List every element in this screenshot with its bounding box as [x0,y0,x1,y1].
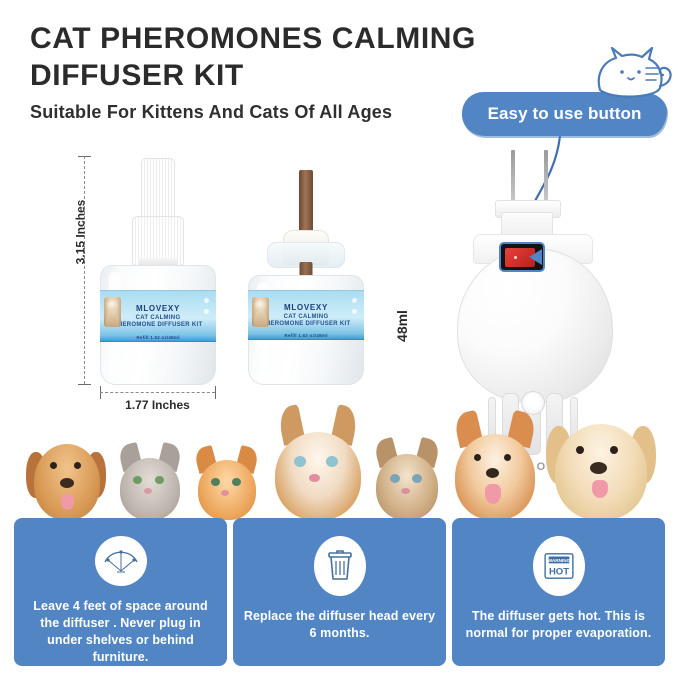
panel-replacement: Replace the diffuser head every 6 months… [233,518,446,666]
label-cat-photo [252,297,269,327]
label-line1: CAT CALMING [136,315,181,321]
distance-arc-icon [95,536,147,586]
diffuser-device: MLOVEXY [443,150,643,400]
power-button[interactable] [499,242,545,272]
page-title-line1: CAT PHEROMONES CALMING [30,20,500,57]
animal-orange-kitten [196,452,258,520]
animal-photo-strip [0,408,679,520]
sign-hot-text: HOT [548,567,568,578]
label-line2: PHEROMONE DIFFUSER KIT [262,321,351,327]
dimension-tick-bottom [78,384,91,385]
label-line1: CAT CALMING [284,314,329,320]
label-line2: PHEROMONE DIFFUSER KIT [114,322,203,328]
panel-heat-warning-text: The diffuser gets hot. This is normal fo… [452,608,665,642]
dimension-line-vertical [84,156,85,384]
animal-shiba-inu-dog [452,422,538,520]
callout-arrow-icon [529,249,542,265]
label-refill-volume: Refill 1.62 oz/48ml [248,333,364,338]
badge-label: Easy to use button [462,92,667,136]
label-cat-photo [104,297,121,327]
panel-spacing-text: Leave 4 feet of space around the diffuse… [14,598,227,666]
warning-hot-sign-icon: WARNING HOT [533,536,585,596]
label-refill-volume: Refill 1.62 oz/48ml [100,335,216,340]
plug-prong-right [544,150,548,202]
label-dots [352,298,361,320]
panel-spacing: Leave 4 feet of space around the diffuse… [14,518,227,666]
page-subtitle: Suitable For Kittens And Cats Of All Age… [30,102,500,123]
open-refill-bottle: MLOVEXY CAT CALMING PHEROMONE DIFFUSER K… [248,170,364,385]
label-brand: MLOVEXY [284,303,328,312]
dimension-line-horizontal [100,392,215,393]
animal-maine-coon-cat [272,420,364,520]
animal-golden-retriever-dog [28,434,106,520]
panel-heat-warning: WARNING HOT The diffuser gets hot. This … [452,518,665,666]
animal-golden-retriever-puppy [548,412,654,520]
exposed-wick [299,170,313,234]
dimension-volume-label: 48ml [394,310,410,342]
bottle-cap [141,158,175,220]
capped-refill-bottle: MLOVEXY CAT CALMING PHEROMONE DIFFUSER K… [100,158,216,385]
panel-replacement-text: Replace the diffuser head every 6 months… [233,608,446,642]
animal-gray-tabby-cat [118,450,182,520]
plug-prong-left [511,150,515,202]
page-title-line2: DIFFUSER KIT [30,57,500,94]
dimension-height-label: 3.15 Inches [73,200,87,265]
bottle-label: MLOVEXY CAT CALMING PHEROMONE DIFFUSER K… [100,290,216,342]
animal-brown-tabby-kitten [374,446,440,520]
header-block: CAT PHEROMONES CALMING DIFFUSER KIT Suit… [30,20,500,123]
label-brand: MLOVEXY [136,304,180,313]
instruction-panels: Leave 4 feet of space around the diffuse… [14,518,665,666]
label-dots [204,298,213,320]
sign-warning-text: WARNING [547,558,570,563]
bottle-label: MLOVEXY CAT CALMING PHEROMONE DIFFUSER K… [248,290,364,340]
power-indicator-dot [514,256,517,259]
dimension-tick-right [215,386,216,399]
trash-can-icon [314,536,366,596]
easy-to-use-badge: Easy to use button [462,92,667,136]
